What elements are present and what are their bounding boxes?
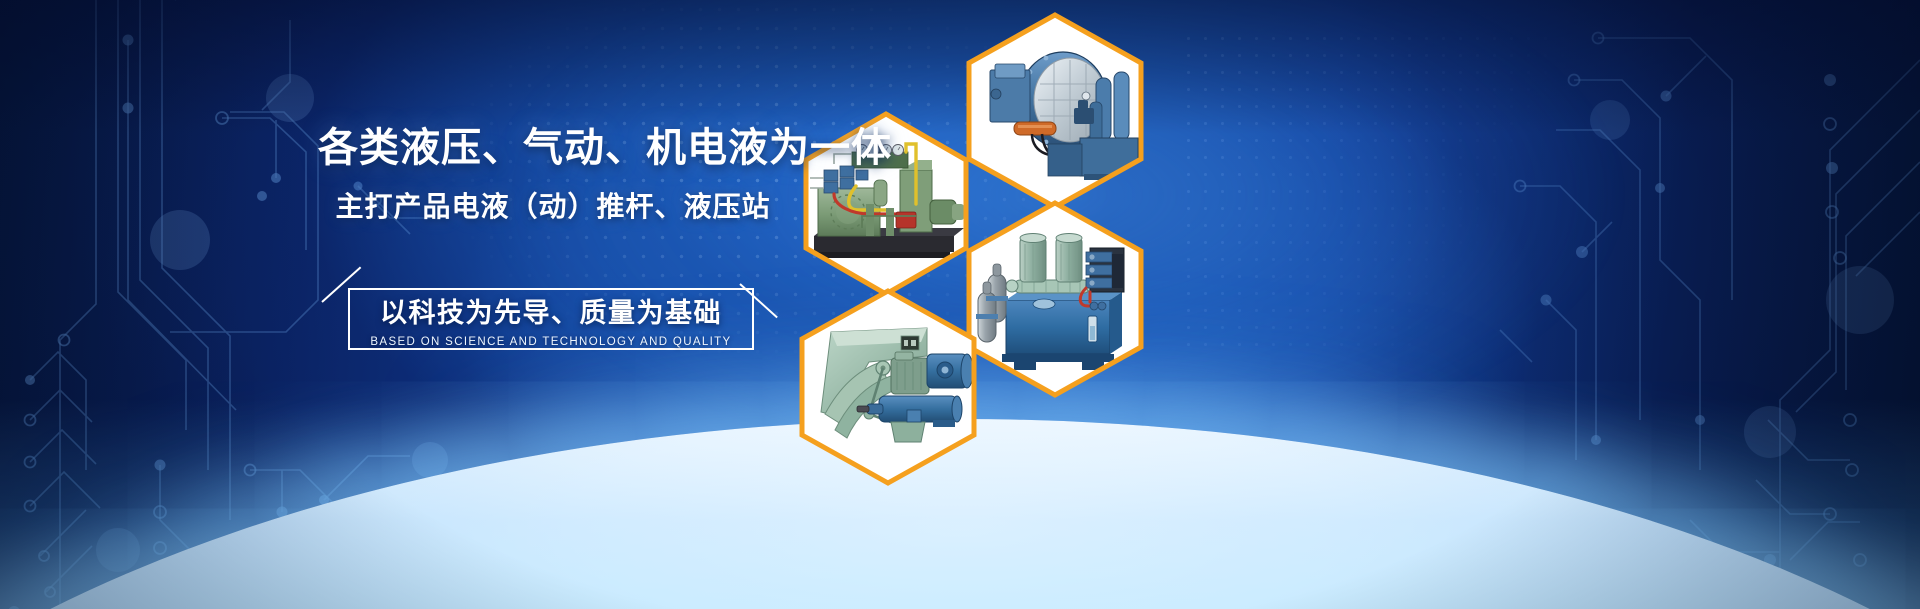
slogan-chinese: 以科技为先导、质量为基础 [380,291,722,330]
product-hexagon-hydraulic-station[interactable] [962,196,1148,402]
page-title: 各类液压、气动、机电液为一体 [318,126,788,171]
page-subtitle: 主打产品电液（动）推杆、液压站 [318,185,788,225]
headline-block: 各类液压、气动、机电液为一体 主打产品电液（动）推杆、液压站 [318,126,788,225]
slogan-english: BASED ON SCIENCE AND TECHNOLOGY AND QUAL… [370,336,731,348]
product-hexagon-electro-hydraulic-pusher[interactable] [795,284,981,490]
slogan-box: 以科技为先导、质量为基础 BASED ON SCIENCE AND TECHNO… [348,288,754,350]
product-hexagon-butterfly-valve[interactable] [962,8,1148,214]
banner-root: 各类液压、气动、机电液为一体 主打产品电液（动）推杆、液压站 以科技为先导、质量… [0,0,1920,609]
